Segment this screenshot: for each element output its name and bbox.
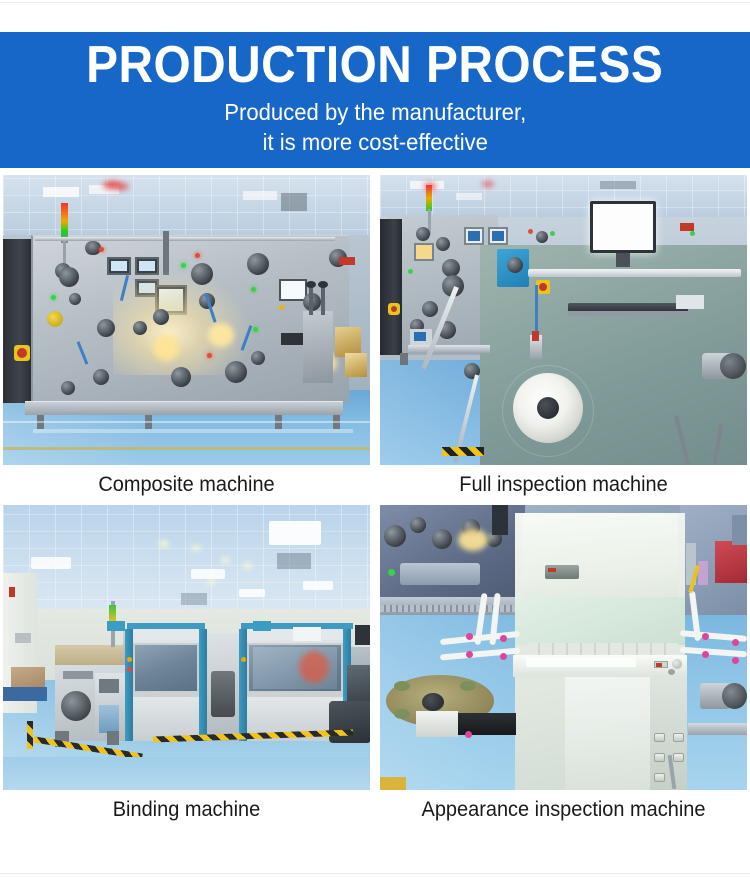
grid-cell-binding-machine: Binding machine: [3, 505, 370, 830]
caption-appearance-inspection-machine: Appearance inspection machine: [389, 790, 738, 830]
top-divider: [0, 2, 750, 3]
page-title: PRODUCTION PROCESS: [86, 38, 663, 93]
page-subtitle-line-1: Produced by the manufacturer,: [224, 97, 526, 128]
production-process-page: PRODUCTION PROCESS Produced by the manuf…: [0, 0, 750, 885]
appearance-inspection-machine-photo[interactable]: [380, 505, 747, 790]
emergency-stop-button: [536, 280, 550, 294]
reel-hub: [422, 693, 444, 711]
composite-machine-photo[interactable]: [3, 175, 370, 465]
caption-binding-machine: Binding machine: [12, 790, 361, 830]
bottom-divider: [0, 873, 750, 874]
machine-base: [25, 401, 343, 415]
process-image-grid: Composite machine: [3, 175, 747, 830]
glass-window: [515, 597, 685, 645]
page-subtitle-line-2: it is more cost-effective: [224, 127, 526, 158]
grid-cell-full-inspection-machine: Full inspection machine: [380, 175, 747, 505]
binding-machine-photo[interactable]: [3, 505, 370, 790]
machine-hood: [523, 513, 678, 601]
hazard-tape: [442, 447, 484, 456]
page-subtitle: Produced by the manufacturer, it is more…: [224, 97, 526, 158]
red-frame: [715, 541, 747, 583]
caption-composite-machine: Composite machine: [12, 465, 361, 505]
caption-full-inspection-machine: Full inspection machine: [389, 465, 738, 505]
drum-roller: [61, 691, 91, 721]
horizontal-rail: [528, 269, 741, 277]
key-strip: [526, 643, 678, 655]
dark-cabinet: [3, 239, 33, 403]
full-inspection-machine-photo[interactable]: [380, 175, 747, 465]
inspection-monitor: [590, 201, 656, 253]
grid-cell-appearance-inspection-machine: Appearance inspection machine: [380, 505, 747, 830]
page-header-banner: PRODUCTION PROCESS Produced by the manuf…: [0, 32, 750, 168]
grid-cell-composite-machine: Composite machine: [3, 175, 370, 505]
reel-arm-housing: [416, 711, 458, 737]
